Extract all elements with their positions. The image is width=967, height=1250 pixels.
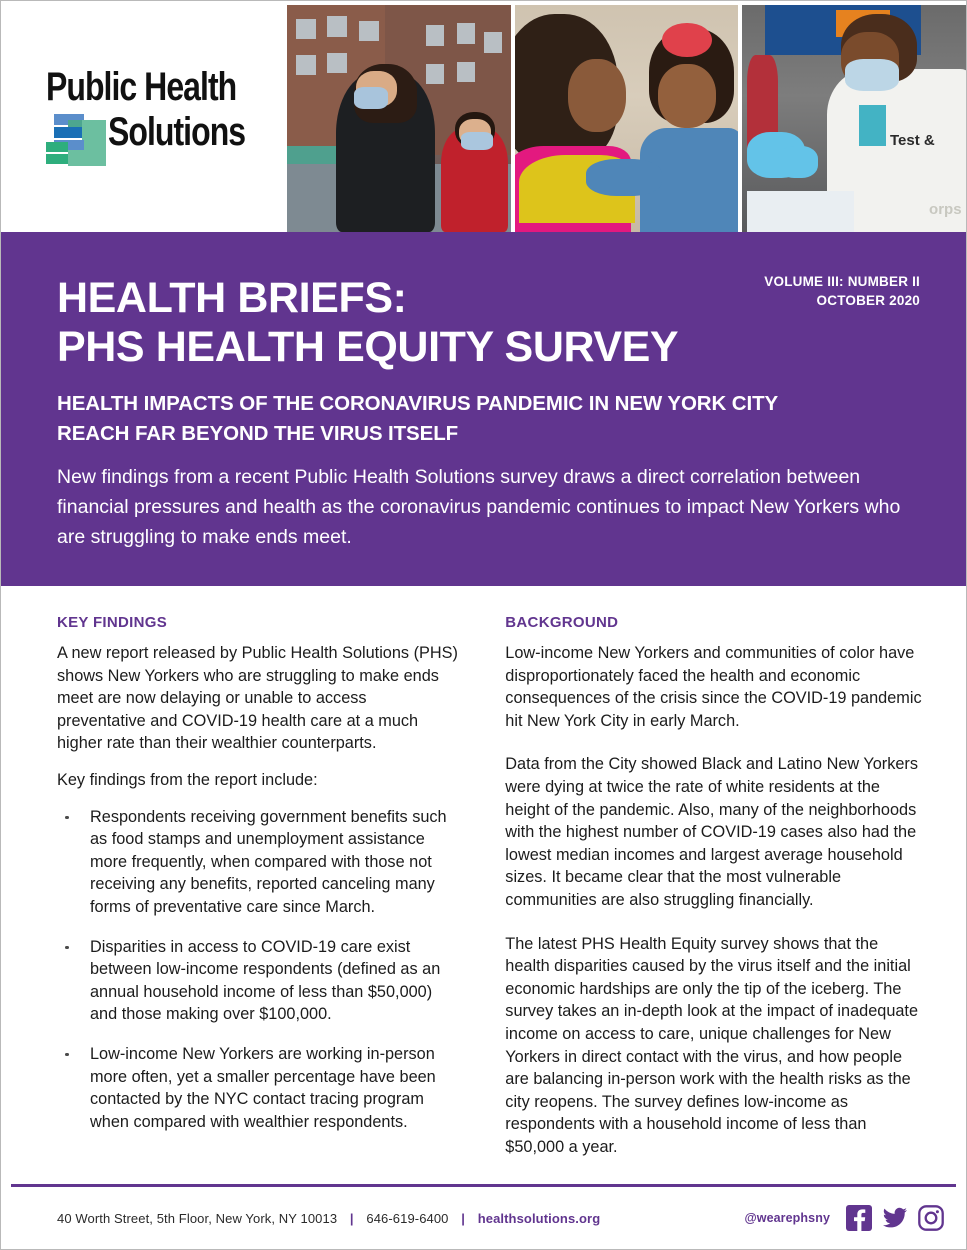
logo-text-line1: Public Health (46, 67, 218, 107)
hero-lede: New findings from a recent Public Health… (57, 462, 902, 552)
page-subtitle-line1: HEALTH IMPACTS OF THE CORONAVIRUS PANDEM… (57, 392, 778, 415)
footer-website-link[interactable]: healthsolutions.org (478, 1211, 601, 1226)
social-handle: @wearephsny (744, 1211, 830, 1225)
list-item: Low-income New Yorkers are working in-pe… (57, 1043, 459, 1133)
key-findings-list: Respondents receiving government benefit… (57, 806, 459, 1134)
page-subtitle: HEALTH IMPACTS OF THE CORONAVIRUS PANDEM… (57, 389, 918, 449)
issue-date: OCTOBER 2020 (764, 291, 920, 310)
phs-logo: Public Health Solutions (46, 67, 261, 166)
photo-masked-women-street (287, 5, 511, 232)
logo-area: Public Health Solutions (1, 1, 287, 232)
key-findings-intro: A new report released by Public Health S… (57, 642, 459, 755)
facebook-icon[interactable] (846, 1205, 872, 1231)
logo-text-line2: Solutions (108, 110, 245, 154)
photo-covid-test-volunteer: Test & orps (742, 5, 966, 232)
tshirt-text: Test & (890, 132, 935, 149)
photo-strip: Test & orps (287, 1, 966, 232)
phs-logo-mark-icon (46, 114, 106, 166)
background-heading: BACKGROUND (505, 614, 926, 631)
footer-phone[interactable]: 646-619-6400 (366, 1211, 448, 1226)
body-columns: KEY FINDINGS A new report released by Pu… (1, 586, 966, 1179)
key-findings-heading: KEY FINDINGS (57, 614, 459, 631)
footer-separator: | (461, 1211, 465, 1226)
footer-address: 40 Worth Street, 5th Floor, New York, NY… (57, 1211, 337, 1226)
volume-number: VOLUME III: NUMBER II (764, 272, 920, 291)
background-column: BACKGROUND Low-income New Yorkers and co… (505, 614, 926, 1179)
photo-mother-and-child (515, 5, 739, 232)
box-text: orps (929, 201, 962, 218)
header-band: Public Health Solutions (1, 1, 966, 232)
background-paragraph: Data from the City showed Black and Lati… (505, 753, 926, 911)
footer-separator: | (350, 1211, 354, 1226)
twitter-icon[interactable] (882, 1205, 908, 1231)
background-paragraph: The latest PHS Health Equity survey show… (505, 933, 926, 1159)
page-subtitle-line2: REACH FAR BEYOND THE VIRUS ITSELF (57, 422, 458, 445)
background-paragraph: Low-income New Yorkers and communities o… (505, 642, 926, 732)
page-title-line2: PHS HEALTH EQUITY SURVEY (57, 323, 678, 371)
health-brief-page: Public Health Solutions (0, 0, 967, 1250)
key-findings-column: KEY FINDINGS A new report released by Pu… (57, 614, 459, 1179)
footer-contact: 40 Worth Street, 5th Floor, New York, NY… (57, 1211, 600, 1226)
issue-meta: VOLUME III: NUMBER II OCTOBER 2020 (764, 272, 920, 310)
instagram-icon[interactable] (918, 1205, 944, 1231)
key-findings-lead-in: Key findings from the report include: (57, 769, 459, 792)
list-item: Respondents receiving government benefit… (57, 806, 459, 919)
page-title-line1: HEALTH BRIEFS: (57, 274, 407, 322)
hero-banner: VOLUME III: NUMBER II OCTOBER 2020 HEALT… (1, 232, 966, 586)
footer-social: @wearephsny (744, 1205, 944, 1231)
list-item: Disparities in access to COVID-19 care e… (57, 936, 459, 1026)
footer: 40 Worth Street, 5th Floor, New York, NY… (1, 1187, 966, 1249)
